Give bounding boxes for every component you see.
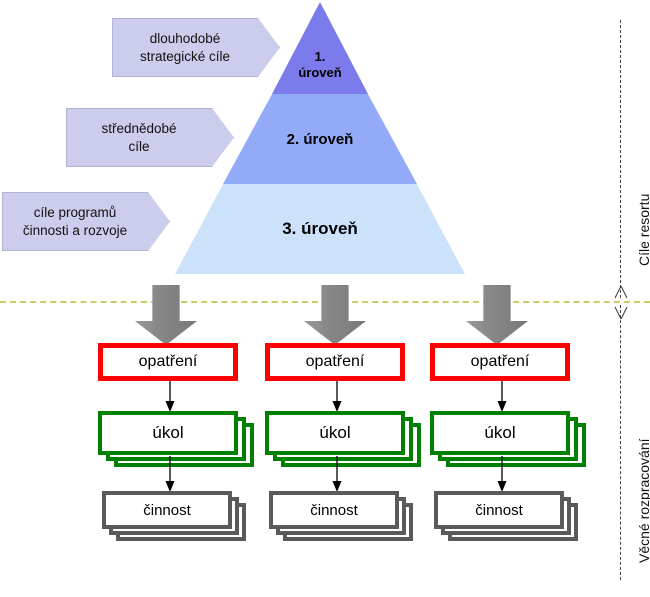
rail-arrowhead-down-icon <box>613 306 629 320</box>
rail-label-goals: Cíle resortu <box>636 194 650 266</box>
callout-program-line2: činnosti a rozvoje <box>23 223 127 238</box>
activity-box[interactable]: činnost <box>102 491 232 529</box>
task-box-stack[interactable]: úkol <box>98 411 238 455</box>
diagram-canvas: dlouhodobé strategické cíle střednědobé … <box>0 0 650 597</box>
task-box-label: úkol <box>152 423 183 443</box>
task-box[interactable]: úkol <box>430 411 570 455</box>
task-box[interactable]: úkol <box>265 411 405 455</box>
measure-box[interactable]: opatření <box>98 343 238 381</box>
connector-task-to-activity <box>331 456 343 492</box>
task-box-label: úkol <box>319 423 350 443</box>
measure-box[interactable]: opatření <box>430 343 570 381</box>
down-arrow-icon-3 <box>466 285 528 345</box>
activity-box-label: činnost <box>475 502 523 519</box>
callout-mid-term-line1: střednědobé <box>101 121 176 136</box>
down-arrow-icon-1 <box>135 285 197 345</box>
rail-dashed-line-bottom <box>620 305 621 580</box>
callout-mid-term-line2: cíle <box>128 139 149 154</box>
callout-program-goals: cíle programů činnosti a rozvoje <box>2 192 170 251</box>
goal-pyramid: 1. úroveň 2. úroveň 3. úroveň <box>175 2 465 274</box>
pyramid-tier-1: 1. úroveň <box>272 2 368 94</box>
right-rail: Cíle resortu Věcné rozpracování <box>596 0 650 597</box>
connector-measure-to-task <box>496 381 508 412</box>
activity-box[interactable]: činnost <box>269 491 399 529</box>
task-box-stack[interactable]: úkol <box>265 411 405 455</box>
rail-dashed-line-top <box>620 20 621 298</box>
connector-measure-to-task <box>331 381 343 412</box>
pyramid-tier-2: 2. úroveň <box>223 94 417 184</box>
activity-box-label: činnost <box>143 502 191 519</box>
activity-box[interactable]: činnost <box>434 491 564 529</box>
down-arrow-icon-2 <box>304 285 366 345</box>
activity-box-label: činnost <box>310 502 358 519</box>
callout-program-line1: cíle programů <box>34 205 117 220</box>
rail-arrowhead-up-icon <box>613 285 629 299</box>
measure-box-label: opatření <box>471 353 530 371</box>
measure-box-label: opatření <box>139 353 198 371</box>
connector-task-to-activity <box>164 456 176 492</box>
pyramid-tier-1-number: 1. <box>315 49 326 64</box>
task-box-label: úkol <box>484 423 515 443</box>
pyramid-tier-3-label: 3. úroveň <box>282 219 358 239</box>
activity-box-stack[interactable]: činnost <box>434 491 564 529</box>
connector-measure-to-task <box>164 381 176 412</box>
measure-box-label: opatření <box>306 353 365 371</box>
rail-label-elaboration: Věcné rozpracování <box>636 438 650 563</box>
pyramid-tier-3: 3. úroveň <box>175 184 465 274</box>
pyramid-tier-1-label: úroveň <box>298 65 341 80</box>
activity-box-stack[interactable]: činnost <box>102 491 232 529</box>
connector-task-to-activity <box>496 456 508 492</box>
activity-box-stack[interactable]: činnost <box>269 491 399 529</box>
pyramid-tier-2-label: 2. úroveň <box>287 131 354 148</box>
task-box[interactable]: úkol <box>98 411 238 455</box>
measure-box[interactable]: opatření <box>265 343 405 381</box>
task-box-stack[interactable]: úkol <box>430 411 570 455</box>
